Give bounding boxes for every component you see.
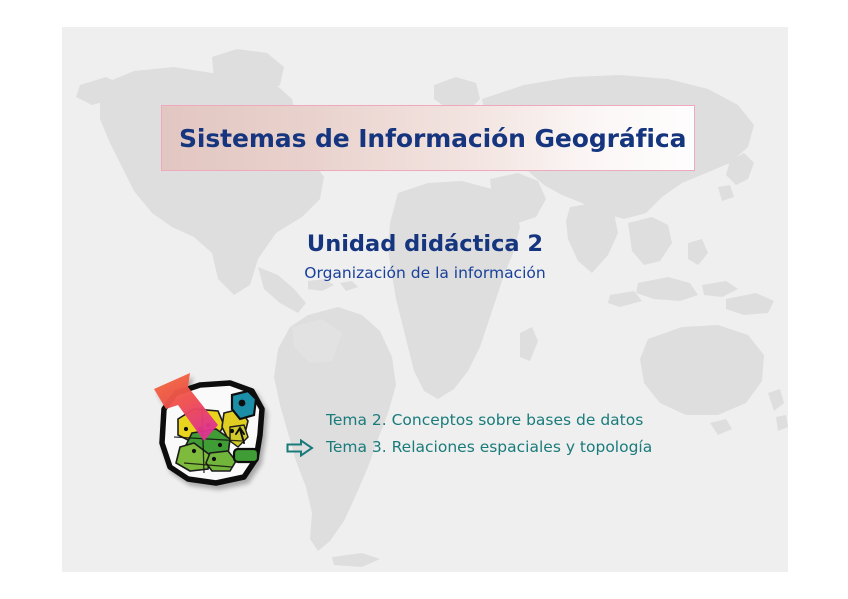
topic-list: Tema 2. Conceptos sobre bases de datos T… <box>284 407 764 461</box>
list-item[interactable]: Tema 3. Relaciones espaciales y topologí… <box>284 434 764 461</box>
unit-heading-block: Unidad didáctica 2 Organización de la in… <box>62 232 788 283</box>
hand-drawn-map-icon <box>144 367 279 497</box>
list-item[interactable]: Tema 2. Conceptos sobre bases de datos <box>284 407 764 434</box>
title-banner: Sistemas de Información Geográfica <box>161 105 695 171</box>
right-arrow-outline-icon <box>284 439 326 457</box>
topic-label-tema-3: Tema 3. Relaciones espaciales y topologí… <box>326 439 652 456</box>
slide-title: Sistemas de Información Geográfica <box>179 124 686 153</box>
unit-subtitle: Organización de la información <box>62 265 788 283</box>
slide-page: Sistemas de Información Geográfica Unida… <box>0 0 848 599</box>
topic-label-tema-2: Tema 2. Conceptos sobre bases de datos <box>326 412 643 429</box>
slide-canvas: Sistemas de Información Geográfica Unida… <box>62 27 788 572</box>
unit-title: Unidad didáctica 2 <box>62 232 788 258</box>
